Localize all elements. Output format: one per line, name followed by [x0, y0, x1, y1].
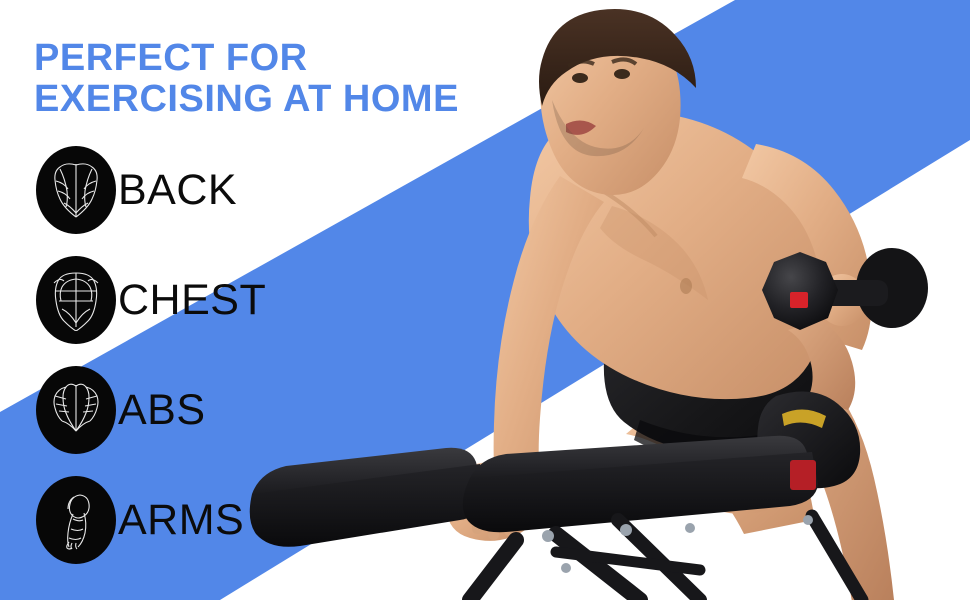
- dumbbell-weight-plate: [790, 292, 808, 308]
- bench-pad-rear-top: [470, 436, 812, 494]
- photo-extended-leg: [788, 392, 894, 600]
- photo-neck: [586, 103, 652, 165]
- photo-fingers: [472, 490, 531, 540]
- photo-support-hand: [446, 462, 542, 541]
- photo-grip-hand: [818, 274, 866, 326]
- benefit-label-back: BACK: [118, 166, 237, 215]
- photo-head: [540, 17, 680, 195]
- photo-knee: [680, 426, 804, 514]
- benefit-label-abs: ABS: [118, 386, 206, 435]
- headline-line-1: PERFECT FOR: [34, 38, 459, 79]
- bench-pad-front-side: [250, 464, 486, 547]
- photo-pec-line: [578, 178, 656, 236]
- promo-banner: PERFECT FOR EXERCISING AT HOME: [0, 0, 970, 600]
- benefit-item-abs: ABS: [36, 366, 266, 454]
- bench-pad-rear-side: [463, 452, 818, 532]
- photo-rowing-forearm: [788, 320, 855, 410]
- photo-shoe: [757, 392, 860, 489]
- photo-mouth: [566, 120, 596, 134]
- headline-line-2: EXERCISING AT HOME: [34, 79, 459, 120]
- benefit-list: BACK: [36, 146, 266, 564]
- bench-bolts: [542, 515, 813, 573]
- dumbbell: [762, 248, 928, 330]
- benefit-item-arms: ARMS: [36, 476, 266, 564]
- chest-muscle-icon: [36, 256, 116, 344]
- shoe-swoosh: [782, 409, 826, 428]
- benefit-label-arms: ARMS: [118, 496, 244, 545]
- bench-pad-rear-accent: [790, 460, 816, 490]
- abs-muscle-icon: [36, 366, 116, 454]
- photo-eye-left: [572, 73, 588, 83]
- photo-rowing-arm: [742, 144, 872, 350]
- dumbbell-far-head: [856, 248, 928, 328]
- bench-pad-front-top: [252, 448, 480, 510]
- benefit-item-chest: CHEST: [36, 256, 266, 344]
- dumbbell-handle: [818, 280, 888, 306]
- weight-bench: [250, 436, 862, 600]
- bench-frame: [470, 516, 862, 600]
- benefit-label-chest: CHEST: [118, 276, 266, 325]
- dumbbell-near-head: [762, 252, 838, 330]
- photo-brow: [568, 59, 636, 66]
- photo-eye-right: [614, 69, 630, 79]
- arm-muscle-icon: [36, 476, 116, 564]
- back-muscle-icon: [36, 146, 116, 234]
- photo-shorts: [604, 274, 824, 453]
- photo-navel: [680, 278, 692, 294]
- benefit-item-back: BACK: [36, 146, 266, 234]
- headline: PERFECT FOR EXERCISING AT HOME: [34, 38, 459, 120]
- photo-support-arm: [494, 176, 604, 516]
- photo-shorts-hem: [634, 416, 812, 463]
- photo-kneeling-leg: [626, 380, 814, 534]
- photo-beard-shadow: [552, 100, 644, 156]
- photo-hair: [539, 9, 696, 106]
- photo-abs-shading: [600, 206, 708, 300]
- photo-torso: [529, 111, 825, 399]
